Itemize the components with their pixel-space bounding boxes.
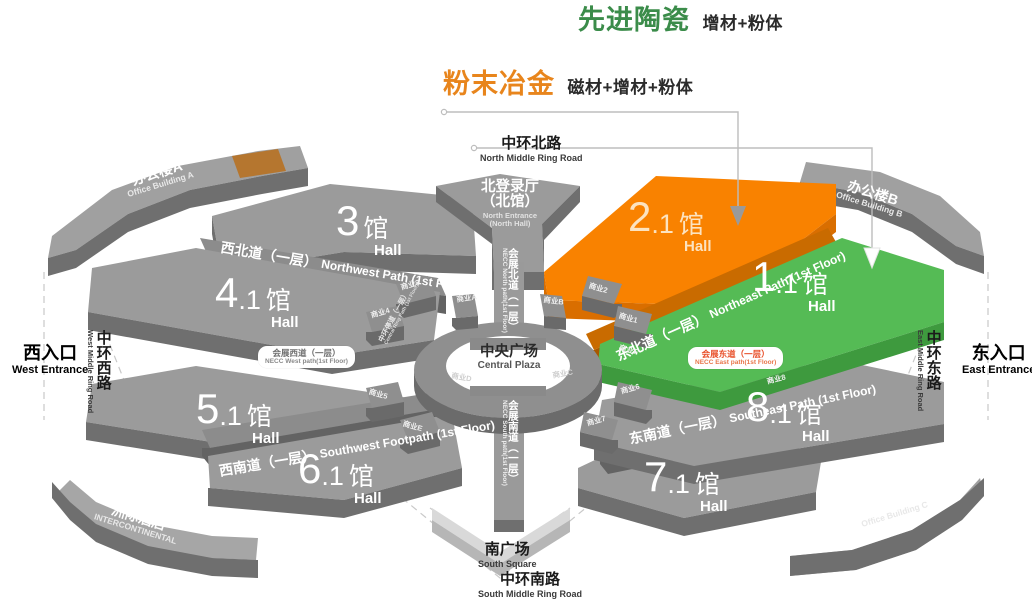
hall-2-1-label[interactable]: 2 .1 馆 Hall: [628, 196, 712, 255]
hall-2-1-number: 2: [628, 196, 651, 238]
hall-5-1-label[interactable]: 5 .1 馆 Hall: [196, 388, 280, 447]
path-north-inner-en: NECC North path(1st Floor): [500, 248, 507, 333]
hall-2-1-en: Hall: [684, 239, 712, 255]
path-south-inner-label: NECC South path(1st Floor) 会展南道（一层）: [500, 400, 518, 486]
road-north-cn: 中环北路: [480, 136, 583, 152]
hall-7-1-guan: 馆: [695, 473, 720, 498]
callout-advanced-ceramics-title: 先进陶瓷: [578, 5, 690, 35]
hall-7-1-en: Hall: [700, 499, 728, 515]
hall-5-1-guan: 馆: [247, 405, 272, 430]
hall-1-1-en: Hall: [808, 299, 836, 315]
hall-6-1-en: Hall: [354, 491, 382, 507]
hall-5-1-suffix: .1: [219, 403, 242, 430]
path-south-inner-cn: 会展南道（一层）: [507, 400, 518, 486]
path-east-pill[interactable]: 会展东道（一层） NECC East path(1st Floor): [688, 347, 783, 369]
south-square-en: South Square: [478, 560, 537, 569]
hall-4-1-guan: 馆: [266, 289, 291, 314]
entrance-west-cn: 西入口: [12, 344, 88, 363]
hall-4-1-suffix: .1: [238, 287, 261, 314]
south-square-label: 南广场 South Square: [478, 542, 537, 569]
path-west-pill[interactable]: 会展西道（一层） NECC West path(1st Floor): [258, 346, 355, 368]
path-east-pill-cn: 会展东道（一层）: [695, 349, 776, 359]
path-east-pill-en: NECC East path(1st Floor): [695, 359, 776, 367]
callout-advanced-ceramics-subtitle: 增材+粉体: [702, 14, 782, 33]
hall-4-1-number: 4: [215, 272, 238, 314]
hall-5-1-number: 5: [196, 388, 219, 430]
hall-7-1-number: 7: [644, 456, 667, 498]
road-north-en: North Middle Ring Road: [480, 154, 583, 163]
path-north-inner-cn: 会展北道（一层）: [507, 248, 518, 333]
hall-4-1-label[interactable]: 4 .1 馆 Hall: [215, 272, 299, 331]
building-office-c-shape: [790, 478, 984, 576]
path-south-inner-en: NECC South path(1st Floor): [500, 400, 507, 486]
road-north: 中环北路 North Middle Ring Road: [480, 136, 583, 163]
hall-5-1-en: Hall: [252, 431, 280, 447]
callout-powder-metallurgy-title: 粉末冶金: [443, 69, 555, 99]
entrance-east-cn: 东入口: [962, 344, 1032, 363]
hall-3-guan: 馆: [363, 217, 388, 242]
entrance-west[interactable]: 西入口 West Entrance: [12, 344, 88, 376]
road-south-cn: 中环南路: [478, 572, 582, 588]
hall-3-label[interactable]: 3 馆 Hall: [336, 200, 402, 259]
hall-2-1-suffix: .1: [651, 211, 674, 238]
venue-map: 先进陶瓷 增材+粉体 粉末冶金 磁材+增材+粉体 中环北路 North Midd…: [0, 0, 1032, 609]
hall-2-1-guan: 馆: [679, 213, 704, 238]
hall-3-en: Hall: [374, 243, 402, 259]
hall-6-1-guan: 馆: [349, 465, 374, 490]
central-plaza-label: 中央广场 Central Plaza: [467, 345, 551, 372]
hall-7-1-suffix: .1: [667, 471, 690, 498]
north-entrance-hall-cn2: （北馆）: [455, 195, 565, 210]
central-plaza-cn: 中央广场: [467, 345, 551, 360]
north-entrance-hall-cn1: 北登录厅: [455, 180, 565, 195]
hall-7-1-label[interactable]: 7 .1 馆 Hall: [644, 456, 728, 515]
entrance-east-en: East Entrance: [962, 365, 1032, 377]
road-east-cn: 中环东路: [925, 330, 941, 411]
callout-powder-metallurgy: 粉末冶金 磁材+增材+粉体: [443, 70, 693, 98]
hall-6-1-suffix: .1: [321, 463, 344, 490]
hall-8-1-en: Hall: [802, 429, 830, 445]
path-north-inner-label: NECC North path(1st Floor) 会展北道（一层）: [500, 248, 518, 333]
south-square-cn: 南广场: [478, 542, 537, 558]
road-south-en: South Middle Ring Road: [478, 590, 582, 599]
road-south: 中环南路 South Middle Ring Road: [478, 572, 582, 599]
hall-4-1-en: Hall: [271, 315, 299, 331]
entrance-east[interactable]: 东入口 East Entrance: [962, 344, 1032, 376]
callout-advanced-ceramics: 先进陶瓷 增材+粉体: [578, 6, 783, 34]
north-entrance-hall-label[interactable]: 北登录厅 （北馆） North Entrance (North Hall): [455, 180, 565, 228]
road-east-en: East Middle Ring Road: [916, 330, 924, 411]
callout-powder-metallurgy-subtitle: 磁材+增材+粉体: [567, 78, 693, 97]
entrance-west-en: West Entrance: [12, 365, 88, 377]
road-east: East Middle Ring Road 中环东路: [916, 330, 941, 411]
path-west-pill-en: NECC West path(1st Floor): [265, 358, 348, 366]
central-plaza-en: Central Plaza: [467, 361, 551, 372]
road-west: West Middle Ring Road 中环西路: [86, 330, 111, 413]
road-west-cn: 中环西路: [95, 330, 111, 413]
north-entrance-hall-en2: (North Hall): [455, 220, 565, 228]
path-west-pill-cn: 会展西道（一层）: [265, 348, 348, 358]
hall-3-number: 3: [336, 200, 359, 242]
